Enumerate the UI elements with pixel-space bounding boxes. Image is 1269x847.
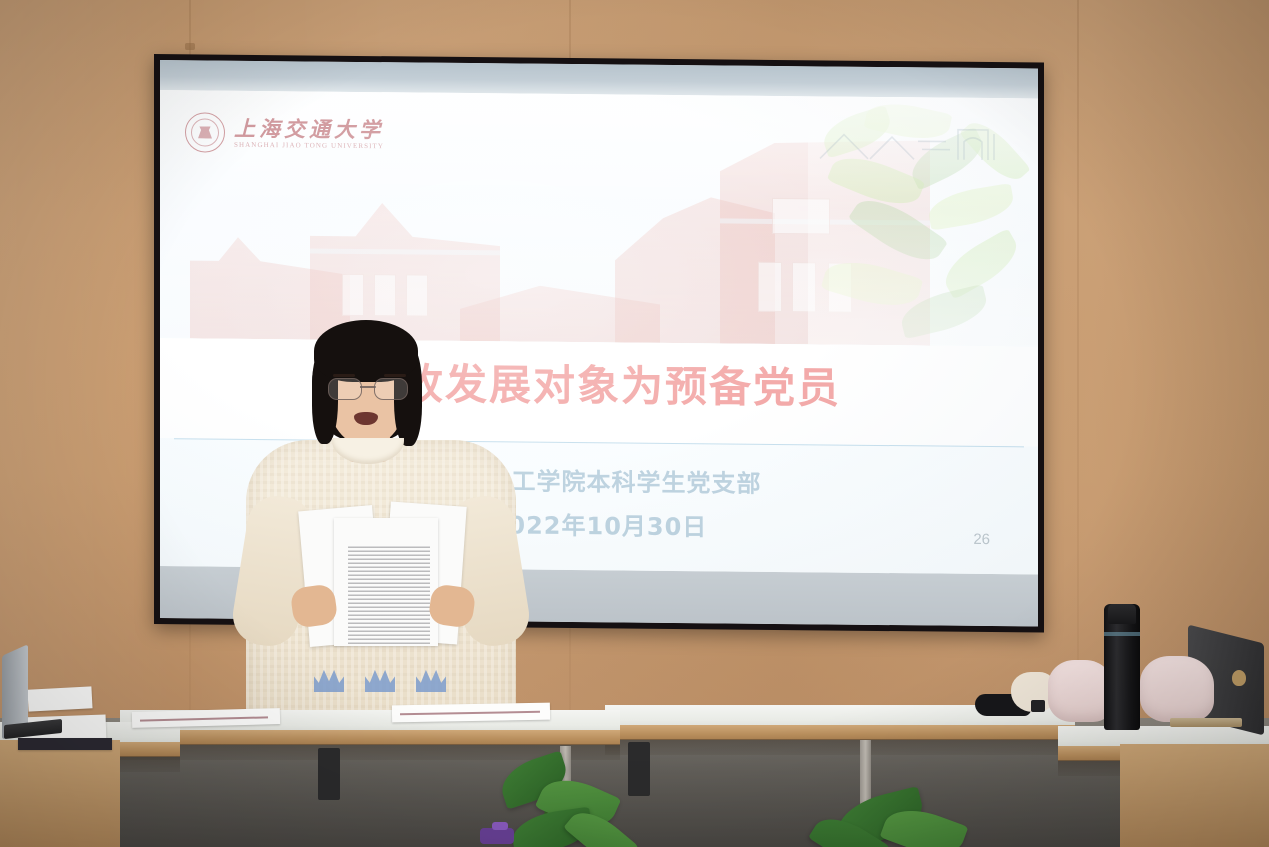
photo-scene: 上海交通大学 SHANGHAI JIAO TONG UNIVERSITY: [0, 0, 1269, 847]
sjtu-gate-watermark-icon: [818, 114, 1008, 164]
sjtu-logo-chinese: 上海交通大学: [234, 117, 384, 139]
presenter-eyebrow: [384, 374, 406, 377]
purple-object-top: [492, 822, 508, 830]
bag-pink-2[interactable]: [1140, 656, 1214, 722]
desk-right-surface: [1120, 744, 1269, 847]
slide-page-number: 26: [973, 531, 990, 548]
laptop-logo-icon: [1232, 670, 1246, 686]
wall-plate: [185, 43, 195, 50]
sjtu-seal-icon: [185, 112, 225, 152]
cable-module: [628, 742, 650, 796]
window: [342, 274, 364, 316]
window: [758, 262, 782, 312]
presenter: [236, 320, 526, 740]
glasses-icon: [328, 378, 408, 398]
purple-object[interactable]: [480, 828, 514, 844]
cable-module: [318, 748, 340, 800]
wall-seam: [1077, 0, 1079, 720]
thermos-cap: [1108, 604, 1136, 624]
document-text-lines: [348, 544, 430, 644]
desk-left-surface: [0, 740, 120, 847]
window: [406, 274, 428, 316]
sjtu-logo: 上海交通大学 SHANGHAI JIAO TONG UNIVERSITY: [185, 112, 384, 154]
sweater-crown-motif: [314, 638, 446, 692]
thermos-band: [1104, 632, 1140, 636]
presenter-eyebrow: [333, 374, 355, 377]
pencil-tray[interactable]: [1170, 718, 1242, 727]
sjtu-logo-english: SHANGHAI JIAO TONG UNIVERSITY: [234, 141, 384, 149]
laptop-left[interactable]: [2, 650, 72, 740]
strap-buckle: [1031, 700, 1045, 712]
window: [374, 274, 396, 316]
presenter-hair-fringe: [314, 320, 418, 382]
